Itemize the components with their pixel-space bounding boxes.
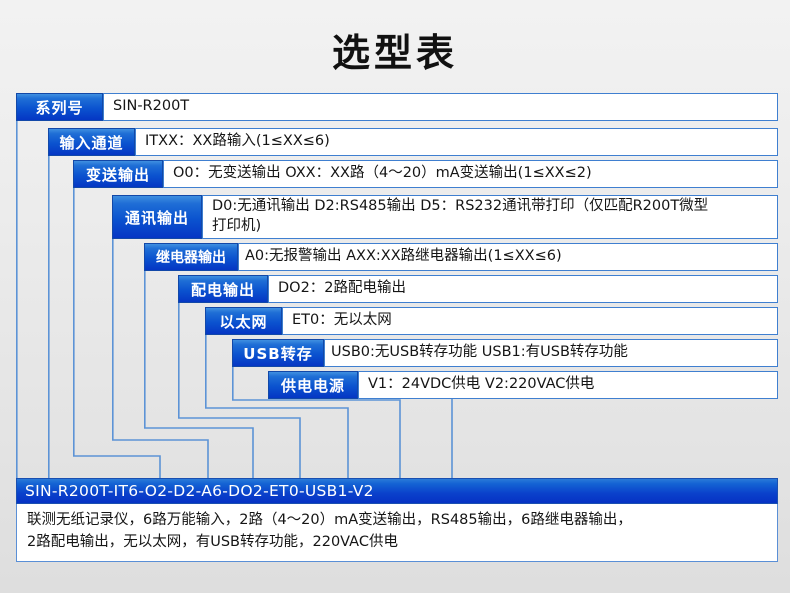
row-label-input-channel: 输入通道 (48, 128, 135, 156)
spec-row-communication-output: 通讯输出 D0:无通讯输出 D2:RS485输出 D5：RS232通讯带打印（仅… (112, 195, 778, 239)
spec-row-relay-output: 继电器输出 A0:无报警输出 AXX:XX路继电器输出(1≤XX≤6) (144, 243, 778, 271)
row-value-transmitter-output: O0：无变送输出 OXX：XX路（4～20）mA变送输出(1≤XX≤2) (163, 160, 778, 188)
row-value-relay-output: A0:无报警输出 AXX:XX路继电器输出(1≤XX≤6) (238, 243, 778, 271)
row-label-power-supply: 供电电源 (268, 371, 358, 399)
row-value-input-channel: ITXX：XX路输入(1≤XX≤6) (135, 128, 778, 156)
row-label-power-distribution-output: 配电输出 (178, 275, 268, 303)
row-label-usb-storage: USB转存 (232, 339, 324, 367)
spec-row-ethernet: 以太网 ET0：无以太网 (205, 307, 778, 335)
communication-output-line1: D0:无通讯输出 D2:RS485输出 D5：RS232通讯带打印（仅匹配R20… (212, 197, 708, 217)
communication-output-line2: 打印机) (212, 217, 708, 237)
row-value-communication-output: D0:无通讯输出 D2:RS485输出 D5：RS232通讯带打印（仅匹配R20… (202, 195, 778, 239)
row-label-series: 系列号 (16, 93, 103, 121)
spec-row-power-distribution-output: 配电输出 DO2：2路配电输出 (178, 275, 778, 303)
row-label-ethernet: 以太网 (205, 307, 282, 335)
row-value-power-distribution-output: DO2：2路配电输出 (268, 275, 778, 303)
row-value-power-supply: V1：24VDC供电 V2:220VAC供电 (358, 371, 778, 399)
spec-row-transmitter-output: 变送输出 O0：无变送输出 OXX：XX路（4～20）mA变送输出(1≤XX≤2… (73, 160, 778, 188)
row-value-usb-storage: USB0:无USB转存功能 USB1:有USB转存功能 (324, 339, 778, 367)
selection-table: 系列号 SIN-R200T 输入通道 ITXX：XX路输入(1≤XX≤6) 变送… (0, 0, 790, 593)
summary-description-line2: 2路配电输出，无以太网，有USB转存功能，220VAC供电 (27, 532, 767, 554)
row-value-ethernet: ET0：无以太网 (282, 307, 778, 335)
row-label-transmitter-output: 变送输出 (73, 160, 163, 188)
row-label-communication-output: 通讯输出 (112, 195, 202, 239)
row-value-series: SIN-R200T (103, 93, 778, 121)
spec-row-series: 系列号 SIN-R200T (16, 93, 778, 121)
summary-description: 联测无纸记录仪，6路万能输入，2路（4～20）mA变送输出，RS485输出，6路… (16, 504, 778, 562)
summary-description-line1: 联测无纸记录仪，6路万能输入，2路（4～20）mA变送输出，RS485输出，6路… (27, 510, 767, 532)
spec-row-power-supply: 供电电源 V1：24VDC供电 V2:220VAC供电 (268, 371, 778, 399)
summary-model-code: SIN-R200T-IT6-O2-D2-A6-DO2-ET0-USB1-V2 (16, 478, 778, 504)
row-label-relay-output: 继电器输出 (144, 243, 238, 271)
summary-block: SIN-R200T-IT6-O2-D2-A6-DO2-ET0-USB1-V2 联… (16, 478, 778, 562)
spec-row-usb-storage: USB转存 USB0:无USB转存功能 USB1:有USB转存功能 (232, 339, 778, 367)
spec-row-input-channel: 输入通道 ITXX：XX路输入(1≤XX≤6) (48, 128, 778, 156)
